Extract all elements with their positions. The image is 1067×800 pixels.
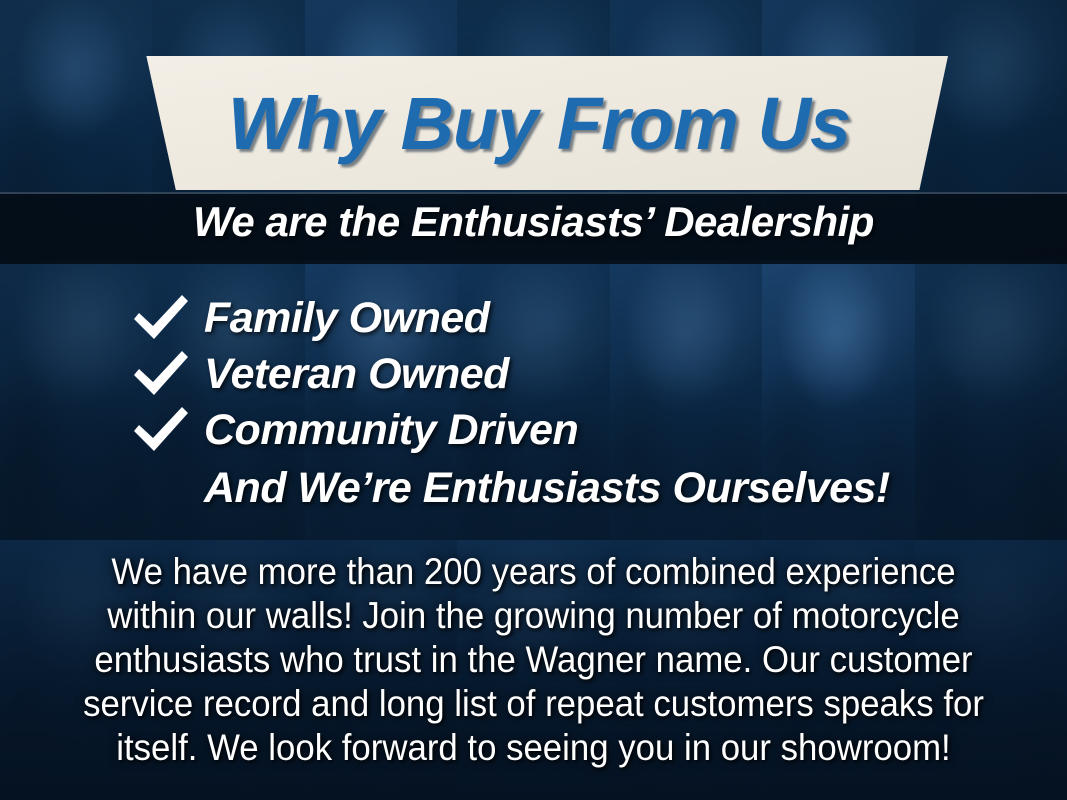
list-item: Family Owned [0,290,1067,346]
why-buy-from-us-poster: Why Buy From Us We are the Enthusiasts’ … [0,0,1067,800]
body-paragraph-text: We have more than 200 years of combined … [74,550,992,770]
subtitle: We are the Enthusiasts’ Dealership [0,198,1067,246]
list-item: Veteran Owned [0,346,1067,402]
checkmark-icon [130,348,192,400]
checkmark-icon [130,292,192,344]
poster-content: Why Buy From Us We are the Enthusiasts’ … [0,0,1067,800]
list-item: Community Driven [0,402,1067,458]
benefits-checklist: Family Owned Veteran Owned Community Dri… [0,290,1067,513]
list-item-label: Veteran Owned [204,350,509,399]
list-item-label: Community Driven [204,406,578,455]
page-title: Why Buy From Us [130,56,948,190]
body-paragraph: We have more than 200 years of combined … [74,550,992,770]
checkmark-icon [130,404,192,456]
tagline: And We’re Enthusiasts Ourselves! [0,464,1067,513]
list-item-label: Family Owned [204,294,490,343]
